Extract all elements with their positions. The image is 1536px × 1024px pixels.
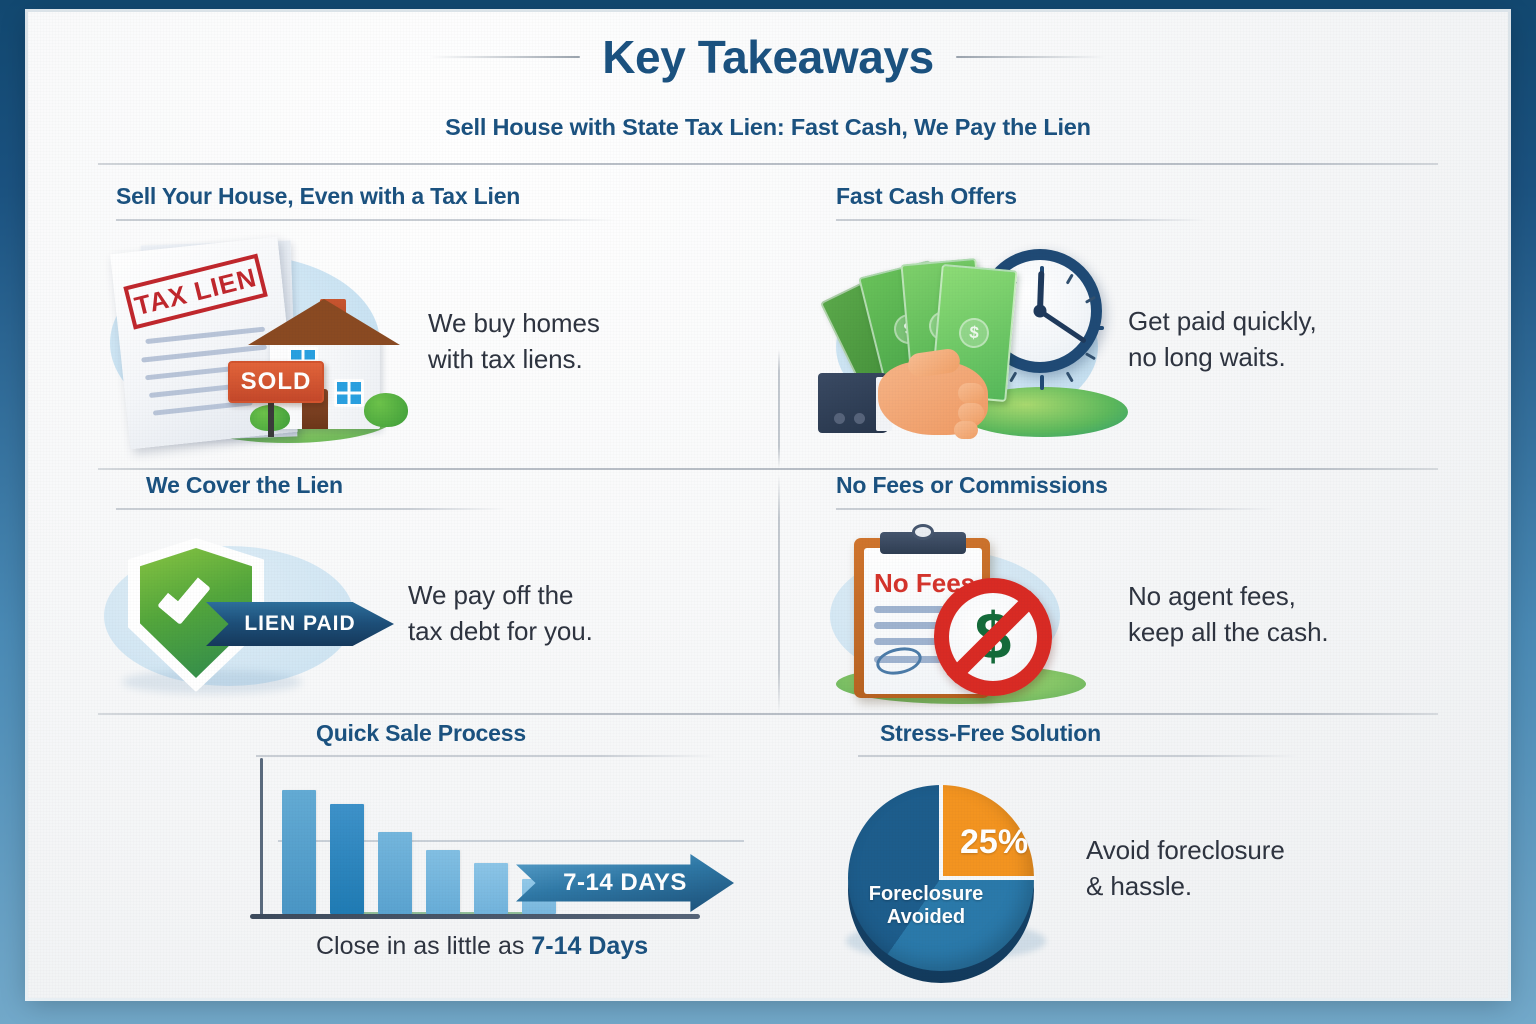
quick-sale-bar-chart: 7-14 DAYS [250,758,750,928]
bill-symbol: $ [958,317,991,350]
caption-highlight: 7-14 Days [531,932,648,960]
cell-title-quick-sale-process: Quick Sale Process [316,720,758,747]
cash-clock-illustration: $ $ $ [818,237,1118,442]
cell-underline [858,755,1298,757]
cell-text-we-cover-the-lien: We pay off the tax debt for you. [408,578,593,650]
cell-underline [116,219,616,221]
bar [330,804,364,914]
bar [474,863,508,914]
cell-we-cover-the-lien: We Cover the Lien LIEN PAID We pay off t… [98,472,758,715]
bar [378,832,412,914]
sold-sign: SOLD [228,361,324,403]
page-subtitle: Sell House with State Tax Lien: Fast Cas… [28,114,1508,141]
cell-title-stress-free-solution: Stress-Free Solution [880,720,1478,747]
pie-slice-label-orange: 25% [960,823,1028,862]
tax-lien-stamp: TAX LIEN [123,254,268,330]
cell-sell-your-house: Sell Your House, Even with a Tax Lien TA… [98,183,758,468]
bar [282,790,316,914]
row-3: Quick Sale Process [28,720,1508,1000]
quick-sale-caption: Close in as little as 7-14 Days [316,932,648,961]
chart-x-axis [250,914,700,919]
cell-text-no-fees-or-commissions: No agent fees, keep all the cash. [1128,579,1329,651]
cell-text-sell-your-house: We buy homes with tax liens. [428,306,600,378]
cell-title-fast-cash-offers: Fast Cash Offers [836,183,1478,210]
cell-underline [256,755,716,757]
pie-slice-label-blue: Foreclosure Avoided [856,883,996,929]
title-row: Key Takeaways [28,30,1508,84]
title-rule-left [430,56,580,58]
no-fees-clipboard-illustration: No Fees $ [818,524,1118,706]
content-grid: Sell Your House, Even with a Tax Lien TA… [28,175,1508,998]
header: Key Takeaways Sell House with State Tax … [28,30,1508,141]
caption-prefix: Close in as little as [316,932,531,960]
cell-title-we-cover-the-lien: We Cover the Lien [146,472,758,499]
row-1: Sell Your House, Even with a Tax Lien TA… [28,183,1508,468]
stress-free-pie-chart: 25% Foreclosure Avoided [836,771,1066,967]
title-rule-right [956,56,1106,58]
cell-stress-free-solution: Stress-Free Solution 25% Foreclosure Avo… [818,720,1478,1000]
lien-paid-arrow: LIEN PAID [206,602,394,646]
cell-underline [116,508,506,510]
cell-title-sell-your-house: Sell Your House, Even with a Tax Lien [116,183,758,210]
cell-fast-cash-offers: Fast Cash Offers [818,183,1478,468]
row-2: We Cover the Lien LIEN PAID We pay off t… [28,472,1508,715]
bar [426,850,460,914]
cell-title-no-fees-or-commissions: No Fees or Commissions [836,472,1478,499]
row-divider-1 [98,468,1438,470]
cell-text-stress-free-solution: Avoid foreclosure & hassle. [1086,833,1285,905]
no-dollar-icon: $ [934,578,1052,696]
cell-quick-sale-process: Quick Sale Process [98,720,758,1000]
pie-pct-value: 25% [960,823,1028,861]
chart-y-axis [260,758,263,916]
cell-no-fees-or-commissions: No Fees or Commissions No Fees [818,472,1478,715]
cell-text-fast-cash-offers: Get paid quickly, no long waits. [1128,304,1317,376]
cell-underline [836,508,1276,510]
infographic-canvas: Key Takeaways Sell House with State Tax … [28,12,1508,998]
lien-paid-shield-illustration: LIEN PAID [98,524,398,704]
tax-lien-house-illustration: TAX LIEN [98,237,418,447]
cell-underline [836,219,1206,221]
page-title: Key Takeaways [602,30,934,84]
house-roof [248,299,400,345]
header-divider [98,163,1438,165]
